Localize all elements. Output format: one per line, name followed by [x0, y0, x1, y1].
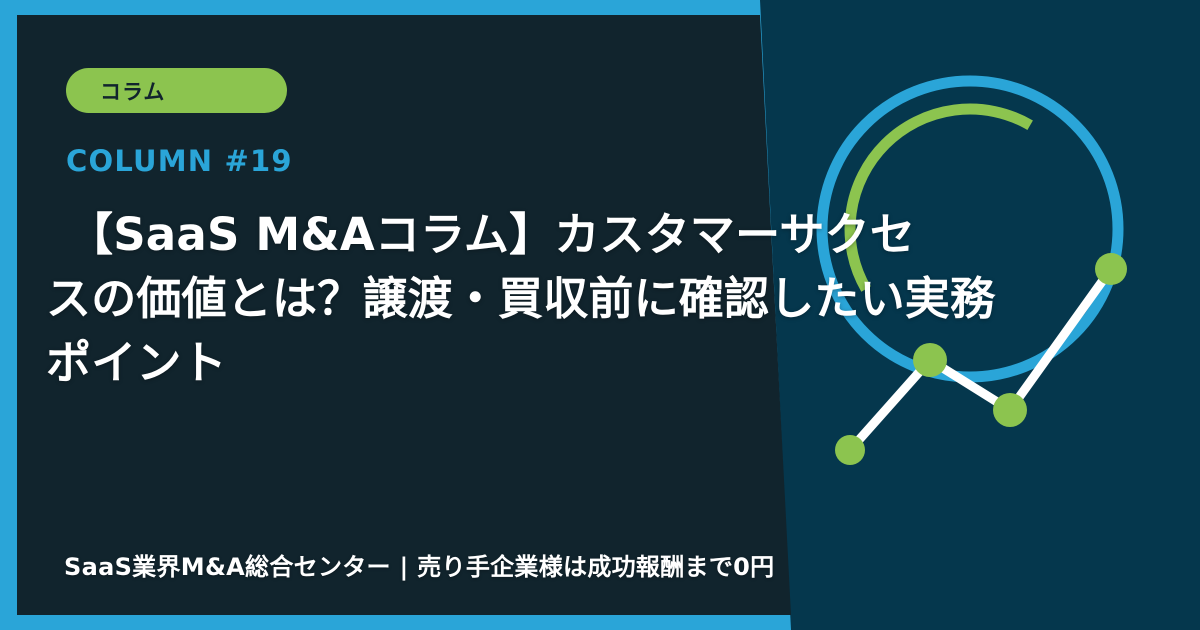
card-content: コラム COLUMN #19 【SaaS M&Aコラム】カスタマーサクセ スの価… [0, 0, 1200, 630]
page-title-line-1: 【SaaS M&Aコラム】カスタマーサクセ [46, 203, 1161, 267]
column-thumbnail-card: コラム COLUMN #19 【SaaS M&Aコラム】カスタマーサクセ スの価… [0, 0, 1200, 630]
page-title: 【SaaS M&Aコラム】カスタマーサクセ スの価値とは？譲渡・買収前に確認した… [46, 203, 1161, 395]
column-number-label: COLUMN #19 [66, 144, 293, 178]
page-title-line-2: スの価値とは？譲渡・買収前に確認したい実務 [46, 267, 1161, 331]
page-title-line-3: ポイント [46, 331, 1161, 395]
category-badge: コラム [66, 68, 287, 113]
category-badge-label: コラム [100, 76, 165, 106]
footer-brand-text: SaaS業界M&A総合センター | 売り手企業様は成功報酬まで0円 [64, 547, 774, 582]
